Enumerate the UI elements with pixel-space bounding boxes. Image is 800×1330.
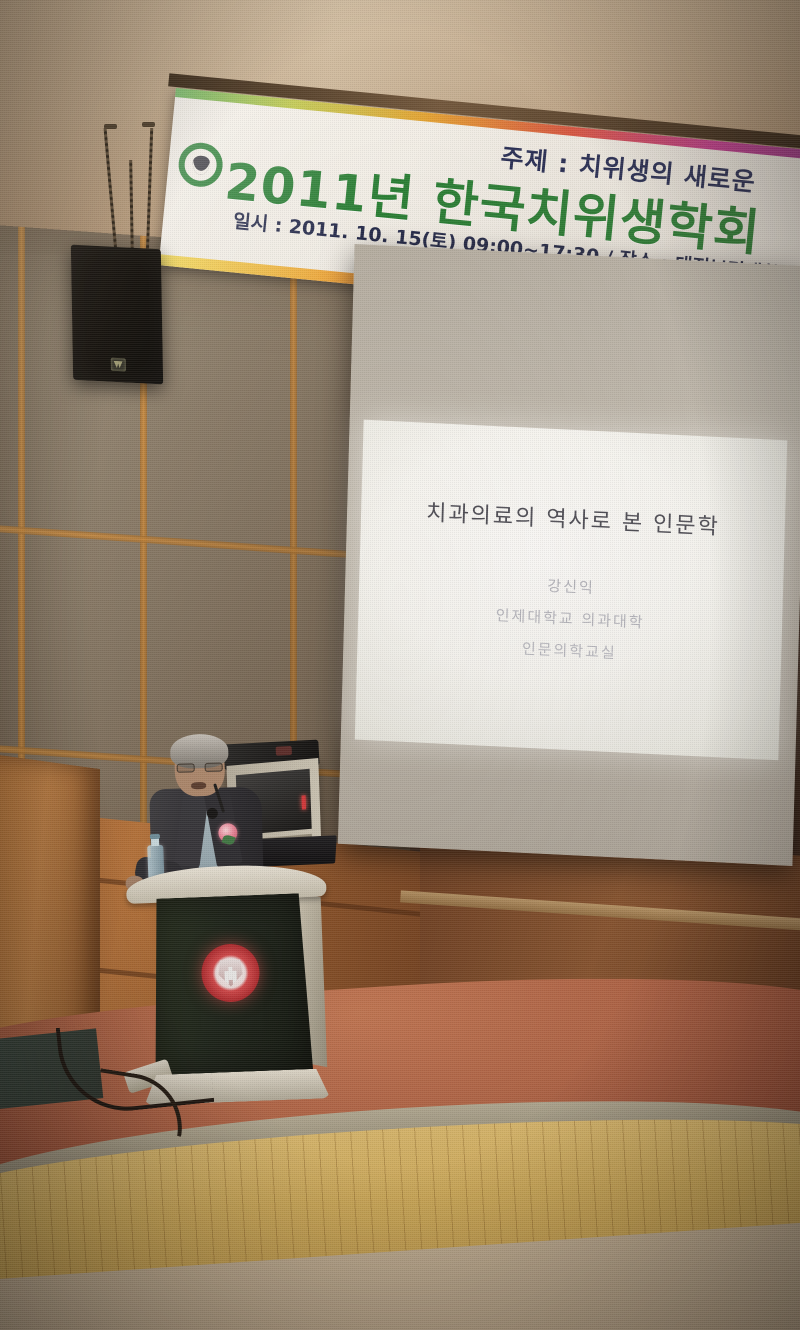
slide-title: 치과의료의 역사로 본 인문학: [361, 492, 785, 545]
boutonniere-flower: [218, 823, 237, 842]
hanging-loudspeaker: [71, 245, 163, 385]
projected-slide: 치과의료의 역사로 본 인문학 강신익 인제대학교 의과대학 인문의학교실: [355, 420, 788, 761]
glasses-icon: [177, 763, 223, 773]
crest-shield-shape: [218, 959, 243, 987]
power-led-icon: [302, 795, 306, 809]
presenter-mouth: [191, 782, 206, 789]
society-emblem-icon: [177, 141, 225, 189]
projection-screen: 치과의료의 역사로 본 인문학 강신익 인제대학교 의과대학 인문의학교실: [338, 244, 800, 866]
speaker-brand-badge: [111, 358, 126, 372]
chain-hook: [142, 122, 155, 127]
lecture-photo: 주제 : 치위생의 새로운 2011년 한국치위생학회 일시 : 2011. 1…: [0, 0, 800, 1330]
